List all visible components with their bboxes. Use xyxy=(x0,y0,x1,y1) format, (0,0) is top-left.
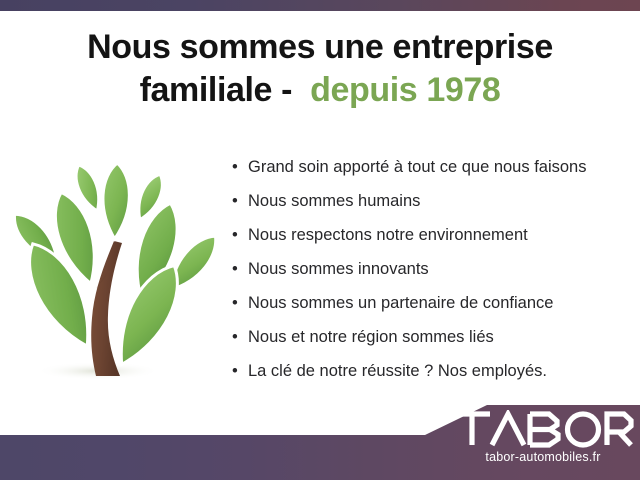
list-item-label: La clé de notre réussite ? Nos employés. xyxy=(248,362,547,380)
list-item: • Grand soin apporté à tout ce que nous … xyxy=(231,150,621,184)
bullet-marker-icon: • xyxy=(232,286,238,320)
bullet-marker-icon: • xyxy=(232,320,238,354)
list-item: • Nous sommes humains xyxy=(231,184,621,218)
brand-logo[interactable]: tabor-automobiles.fr xyxy=(452,410,634,472)
value-bullet-list: • Grand soin apporté à tout ce que nous … xyxy=(231,150,621,388)
list-item: • Nous et notre région sommes liés xyxy=(231,320,621,354)
headline-since-year: depuis 1978 xyxy=(310,71,500,109)
headline-familiale: familiale - xyxy=(140,71,292,109)
bullet-marker-icon: • xyxy=(232,354,238,388)
list-item-label: Nous sommes humains xyxy=(248,192,420,210)
headline-line-2: familiale - depuis 1978 xyxy=(0,69,640,112)
list-item: • Nous sommes un partenaire de confiance xyxy=(231,286,621,320)
slide-canvas: Nous sommes une entreprise familiale - d… xyxy=(0,0,640,480)
page-title: Nous sommes une entreprise familiale - d… xyxy=(0,26,640,112)
footer-bar: tabor-automobiles.fr xyxy=(0,400,640,480)
bullet-marker-icon: • xyxy=(232,184,238,218)
bullet-marker-icon: • xyxy=(232,150,238,184)
bullet-marker-icon: • xyxy=(232,252,238,286)
headline-gap xyxy=(292,71,310,109)
top-accent-bar xyxy=(0,0,640,11)
tabor-wordmark-icon xyxy=(452,410,634,448)
bullet-marker-icon: • xyxy=(232,218,238,252)
list-item-label: Nous sommes innovants xyxy=(248,260,429,278)
list-item: • Nous respectons notre environnement xyxy=(231,218,621,252)
list-item-label: Nous respectons notre environnement xyxy=(248,226,528,244)
tree-leaf xyxy=(102,163,131,240)
list-item-label: Grand soin apporté à tout ce que nous fa… xyxy=(248,158,586,176)
brand-url[interactable]: tabor-automobiles.fr xyxy=(452,450,634,464)
list-item-label: Nous et notre région sommes liés xyxy=(248,328,494,346)
green-tree-icon xyxy=(8,143,218,391)
headline-line-1: Nous sommes une entreprise xyxy=(87,28,553,66)
tree-trunk xyxy=(91,241,122,376)
list-item: • La clé de notre réussite ? Nos employé… xyxy=(231,354,621,388)
list-item: • Nous sommes innovants xyxy=(231,252,621,286)
list-item-label: Nous sommes un partenaire de confiance xyxy=(248,294,553,312)
